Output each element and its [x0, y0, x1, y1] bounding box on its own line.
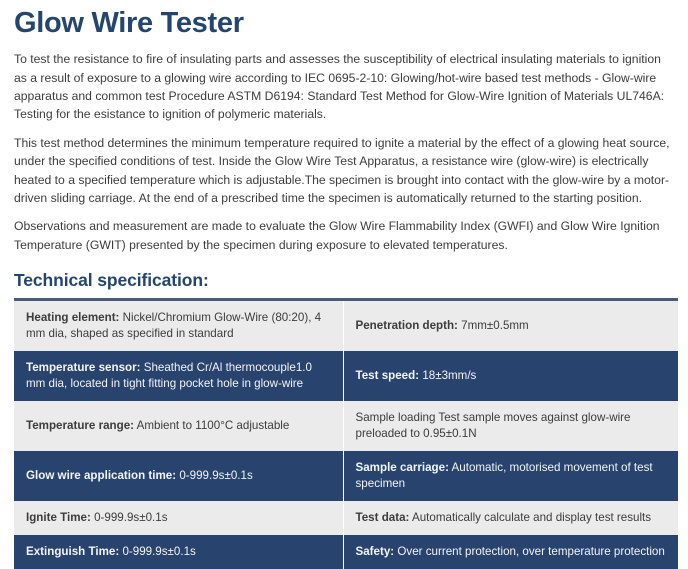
- spec-label: Safety:: [356, 545, 395, 558]
- spec-cell-left: Extinguish Time: 0-999.9s±0.1s: [14, 535, 343, 569]
- spec-cell-right: Test speed: 18±3mm/s: [343, 351, 678, 401]
- spec-cell-right: Sample carriage: Automatic, motorised mo…: [343, 451, 678, 501]
- spec-cell-left: Temperature sensor: Sheathed Cr/Al therm…: [14, 351, 343, 401]
- spec-value: Sample loading Test sample moves against…: [356, 411, 631, 440]
- table-row: Temperature range: Ambient to 1100°C adj…: [14, 401, 678, 451]
- table-row: Glow wire application time: 0-999.9s±0.1…: [14, 451, 678, 501]
- spec-cell-right: Penetration depth: 7mm±0.5mm: [343, 300, 678, 352]
- table-row: Temperature sensor: Sheathed Cr/Al therm…: [14, 351, 678, 401]
- spec-label: Test speed:: [356, 369, 420, 382]
- spec-cell-right: Test data: Automatically calculate and d…: [343, 501, 678, 535]
- spec-value: 0-999.9s±0.1s: [122, 545, 195, 558]
- spec-label: Ignite Time:: [26, 511, 91, 524]
- table-row: Ignite Time: 0-999.9s±0.1sTest data: Aut…: [14, 501, 678, 535]
- intro-paragraph-1: To test the resistance to fire of insula…: [14, 50, 674, 124]
- spec-label: Penetration depth:: [356, 319, 458, 332]
- spec-value: Automatically calculate and display test…: [412, 511, 651, 524]
- spec-label: Temperature range:: [26, 419, 134, 432]
- intro-paragraph-3: Observations and measurement are made to…: [14, 217, 674, 254]
- spec-value: Ambient to 1100°C adjustable: [137, 419, 290, 432]
- spec-value: Over current protection, over temperatur…: [397, 545, 664, 558]
- spec-value: 18±3mm/s: [422, 369, 476, 382]
- technical-specification-table: Heating element: Nickel/Chromium Glow-Wi…: [14, 298, 678, 569]
- spec-cell-left: Glow wire application time: 0-999.9s±0.1…: [14, 451, 343, 501]
- spec-cell-right: Safety: Over current protection, over te…: [343, 535, 678, 569]
- spec-label: Heating element:: [26, 311, 119, 324]
- spec-label: Glow wire application time:: [26, 469, 176, 482]
- spec-value: 0-999.9s±0.1s: [94, 511, 167, 524]
- spec-cell-right: Sample loading Test sample moves against…: [343, 401, 678, 451]
- spec-label: Sample carriage:: [356, 461, 449, 474]
- spec-label: Temperature sensor:: [26, 361, 140, 374]
- page-title: Glow Wire Tester: [14, 6, 676, 40]
- document-page: Glow Wire Tester To test the resistance …: [0, 6, 688, 569]
- spec-label: Test data:: [356, 511, 410, 524]
- table-row: Heating element: Nickel/Chromium Glow-Wi…: [14, 300, 678, 352]
- table-row: Extinguish Time: 0-999.9s±0.1sSafety: Ov…: [14, 535, 678, 569]
- spec-value: 7mm±0.5mm: [461, 319, 529, 332]
- section-title-technical-specification: Technical specification:: [14, 270, 676, 291]
- intro-paragraph-2: This test method determines the minimum …: [14, 134, 674, 208]
- spec-label: Extinguish Time:: [26, 545, 119, 558]
- spec-cell-left: Ignite Time: 0-999.9s±0.1s: [14, 501, 343, 535]
- spec-cell-left: Temperature range: Ambient to 1100°C adj…: [14, 401, 343, 451]
- spec-cell-left: Heating element: Nickel/Chromium Glow-Wi…: [14, 300, 343, 352]
- table-body: Heating element: Nickel/Chromium Glow-Wi…: [14, 300, 678, 569]
- spec-value: 0-999.9s±0.1s: [179, 469, 252, 482]
